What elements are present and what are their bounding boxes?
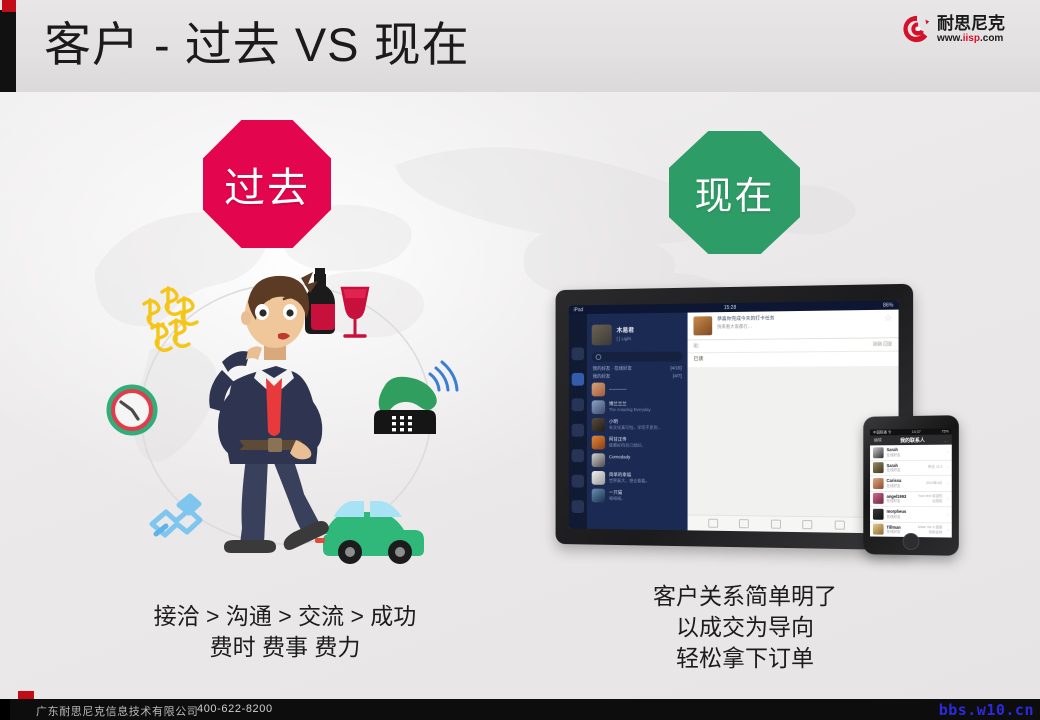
iphone-status-right: 75% [942,429,949,433]
contact-meta: Make me a 感谢你的支持 [916,525,942,535]
avatar [873,493,884,504]
avatar [873,447,884,458]
iphone-screen: 中国联通 令 14:37 75% 编辑 我的联系人 … Sarah 在线好友 › [870,428,952,537]
list-item[interactable]: 一只猫 喵喵喵。 [587,487,688,506]
contact-group-label: 我的好友 [593,374,611,380]
avatar [592,436,605,450]
iphone-nav-title: 我的联系人 [900,436,925,443]
contact-sub: The Amazing Everyday [609,407,683,413]
contact-sub: 在线好友 [887,530,901,535]
ipad-status-center: 15:28 [724,304,736,310]
caption-now: 客户关系简单明了 以成交为导向 轻松拿下订单 [575,581,915,674]
chevron-right-icon: › [947,481,949,486]
list-item[interactable]: morpheus 在线好友 › [870,507,952,523]
logo-url-prefix: www. [937,33,963,44]
message-body: 已读 [688,352,899,368]
badge-now-octagon: 现在 [669,131,800,254]
contact-sub: 在线好友 [887,514,907,519]
ipad-status-left: iPad [574,307,584,313]
contact-name: morpheus [887,509,907,515]
avatar [592,453,605,467]
more-icon[interactable]: … [944,437,948,442]
ipad-qq-messenger-mockup: iPad 15:28 86% [556,284,914,550]
search-input[interactable] [592,351,683,362]
page-title: 客户 - 过去 VS 现在 [44,16,470,74]
chevron-right-icon: › [947,465,949,470]
slide-canvas: 客户 - 过去 VS 现在 耐思尼克 www.iisp.com 过去 现在 [0,0,1040,720]
list-item[interactable]: Sarah 在线好友 昨天 11:2 › [870,460,952,476]
chat-icon[interactable] [834,520,844,529]
contact-meta: Your text 欢迎的出现啦 [916,494,942,503]
caption-now-line3: 轻松拿下订单 [575,643,915,674]
settings-gear-icon[interactable] [572,500,584,513]
image-icon[interactable] [739,519,749,528]
badge-now-label: 现在 [694,165,774,220]
edit-button[interactable]: 编辑 [874,437,882,443]
qq-profile-name: 木易君 [617,327,634,335]
header-red-square-accent [2,0,16,12]
contact-sub: · [609,460,683,466]
slide-header: 客户 - 过去 VS 现在 耐思尼克 www.iisp.com [0,0,1040,92]
logo-brand-cn: 耐思尼克 [937,15,1005,32]
list-item[interactable]: Comedady · [587,451,688,469]
avatar [873,509,884,520]
header-left-black-bar [0,10,16,92]
avatar [592,489,605,503]
list-item[interactable]: Sarah 在线好友 › [870,445,952,461]
chevron-right-icon: › [947,528,949,533]
avatar [592,400,605,414]
footer-phone-number: 400-622-8200 [197,703,273,715]
contact-meta: 2014年4月 [926,481,942,486]
contact-sub: 有文化真可怕，学而不思则… [609,425,683,431]
list-item[interactable]: 小明 有文化真可怕，学而不思则… [587,416,688,434]
contact-sub: 在线好友 [887,484,902,489]
ipad-status-right: 86% [883,302,893,308]
contact-sub: 做最好的自己就好。 [609,443,683,449]
recent-icon[interactable] [572,347,584,360]
apps-icon[interactable] [572,449,584,462]
chevron-right-icon: › [947,496,949,501]
video-icon[interactable] [802,520,812,529]
list-item[interactable]: angel1993 在线好友 Your text 欢迎的出现啦 › [870,491,952,507]
message-meta-left: 图： [693,343,702,349]
message-subtitle: 快来看大家都在… [717,322,774,330]
logo-url: www.iisp.com [937,34,1005,44]
logo-text-block: 耐思尼克 www.iisp.com [937,15,1005,44]
contacts-icon[interactable] [572,373,584,386]
footer-left-black-block [0,699,10,720]
badge-past-octagon: 过去 [203,120,331,248]
list-item[interactable]: 简单的幸福 世界真大，想去看看。 [587,469,688,488]
iphone-contacts-mockup: 中国联通 令 14:37 75% 编辑 我的联系人 … Sarah 在线好友 › [863,415,959,556]
contact-name: Carissa [887,478,902,483]
caption-now-line2: 以成交为导向 [575,612,915,643]
ipad-screen: iPad 15:28 86% [569,300,899,533]
search-icon [596,354,602,360]
contact-name: ———— [609,386,683,392]
badge-past-label: 过去 [224,154,310,214]
chevron-right-icon: › [947,512,949,517]
avatar [592,324,612,345]
avatar [592,471,605,485]
contact-sub: 世界真大，想去看看。 [609,478,683,485]
contact-sub: 喵喵喵。 [609,496,683,503]
avatar [592,418,605,432]
avatar [873,462,884,473]
watermark: bbs.w10.cn [939,701,1034,719]
contact-meta: 昨天 11:2 [928,465,942,470]
star-icon[interactable]: ☆ [884,314,892,323]
list-item[interactable]: Carissa 在线好友 2014年4月 › [870,476,952,492]
qq-profile-signature: [ ] Light [617,335,634,342]
slide-footer: 广东耐思尼克信息技术有限公司 400-622-8200 bbs.w10.cn [0,699,1040,720]
footer-company-name: 广东耐思尼克信息技术有限公司 [36,703,198,719]
shirt-icon[interactable] [572,475,584,488]
star-icon[interactable] [572,424,584,437]
home-button[interactable] [902,533,919,550]
caption-past-line1: 接洽 > 沟通 > 交流 > 成功 [55,601,515,632]
avatar [873,478,884,489]
iphone-status-left: 中国联通 令 [873,430,891,435]
avatar [873,524,884,535]
ipad-app-body: 木易君 [ ] Light 我的好友 · 在线好友 [4/15] 我 [569,310,899,534]
logo-url-mid: iisp [963,33,980,44]
caption-past-line2: 费时 费事 费力 [55,632,515,663]
contact-sub: 在线好友 [887,453,901,458]
qq-profile[interactable]: 木易君 [ ] Light [587,313,688,352]
screenshot-icon[interactable] [771,520,781,529]
list-item[interactable]: 博兰兰兰 The Amazing Everyday [587,398,688,416]
mic-icon[interactable] [708,519,718,528]
brand-logo: 耐思尼克 www.iisp.com [902,8,1026,50]
contact-group-label: 我的好友 · 在线好友 [593,366,632,372]
groups-icon[interactable] [572,398,584,411]
chevron-right-icon: › [947,449,949,454]
qq-nav-rail [569,314,587,529]
iisp-swirl-logo-icon [902,14,932,44]
avatar [693,316,712,335]
list-item[interactable]: ———— [587,380,688,398]
avatar [592,383,605,397]
list-item[interactable]: 阿甘正传 做最好的自己就好。 [587,434,688,452]
iphone-status-center: 14:37 [912,430,921,434]
contact-list: ———— 博兰兰兰 The Amazing Everyday 小明 [587,380,688,530]
contact-sub: 在线好友 [887,499,907,504]
message-meta-right: 刚刚 回复 [873,341,892,347]
contact-group-count: [4/15] [670,365,681,371]
contact-group-count: [4/7] [673,373,682,379]
caption-past: 接洽 > 沟通 > 交流 > 成功 费时 费事 费力 [55,601,515,663]
caption-now-line1: 客户关系简单明了 [575,581,915,612]
device-mockups: iPad 15:28 86% [545,283,965,563]
logo-url-suffix: .com [980,33,1003,44]
qq-contacts-sidebar: 木易君 [ ] Light 我的好友 · 在线好友 [4/15] 我 [587,313,688,531]
contact-sub: 在线好友 [887,468,901,473]
confused-businessman-illustration [96,262,476,572]
message-header: 恭喜你完成今天的打卡任务 快来看大家都在… ☆ [688,310,899,341]
